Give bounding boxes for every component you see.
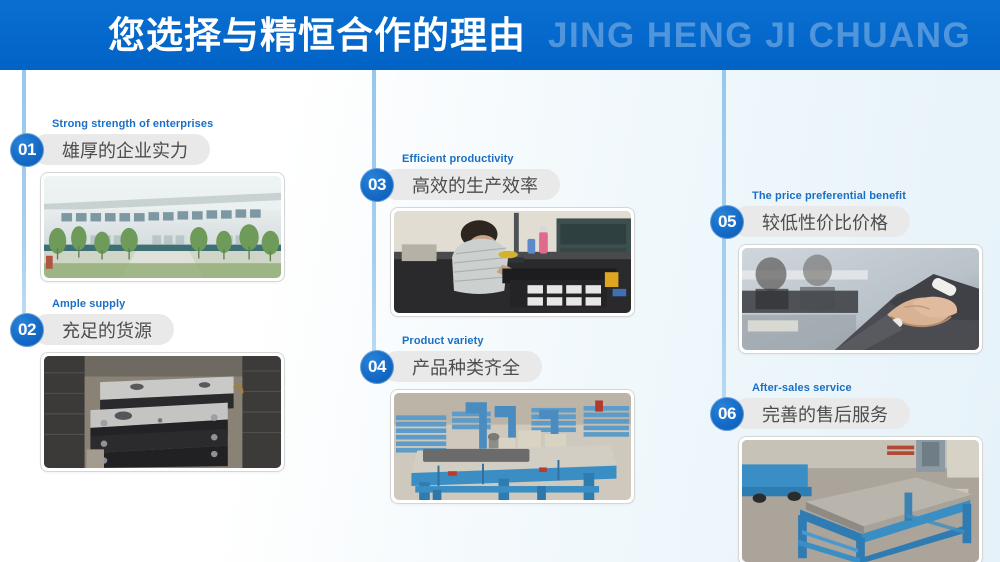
feature-photo-frame-05[interactable] [738,244,983,354]
feature-label-cn-04: 产品种类齐全 [382,351,542,382]
feature-badge-06: 06 [710,397,744,431]
feature-header-06: After-sales service 完善的售后服务 06 [710,382,983,430]
feature-item-05[interactable]: The price preferential benefit 较低性价比价格 0… [710,190,983,354]
feature-badge-02: 02 [10,313,44,347]
feature-header-04: Product variety 产品种类齐全 04 [360,335,635,383]
feature-label-cn-01: 雄厚的企业实力 [32,134,210,165]
feature-badge-04: 04 [360,350,394,384]
feature-label-en-03: Efficient productivity [402,153,514,165]
feature-label-cn-05: 较低性价比价格 [732,206,910,237]
feature-header-03: Efficient productivity 高效的生产效率 03 [360,153,635,201]
feature-label-cn-03: 高效的生产效率 [382,169,560,200]
feature-header-02: Ample supply 充足的货源 02 [10,298,285,346]
worker-at-workbench-photo [394,211,631,313]
page-title-pinyin: JING HENG JI CHUANG [548,18,971,53]
page-title: 您选择与精恒合作的理由 [108,17,526,54]
feature-label-en-06: After-sales service [752,382,852,394]
feature-photo-frame-03[interactable] [390,207,635,317]
feature-label-en-02: Ample supply [52,298,125,310]
feature-badge-01: 01 [10,133,44,167]
factory-building-photo [44,176,281,278]
feature-photo-frame-04[interactable] [390,389,635,504]
feature-item-02[interactable]: Ample supply 充足的货源 02 [10,298,285,472]
column-1: Strong strength of enterprises 雄厚的企业实力 0… [10,70,310,562]
stacked-granite-plates-photo [44,356,281,468]
feature-photo-frame-01[interactable] [40,172,285,282]
feature-badge-05: 05 [710,205,744,239]
feature-label-en-01: Strong strength of enterprises [52,118,213,130]
blue-machine-platform-photo [394,393,631,500]
column-3: The price preferential benefit 较低性价比价格 0… [710,70,1000,562]
why-choose-us-infographic: 您选择与精恒合作的理由 JING HENG JI CHUANG Strong s… [0,0,1000,562]
feature-item-04[interactable]: Product variety 产品种类齐全 04 [360,335,635,504]
feature-label-en-04: Product variety [402,335,484,347]
feature-item-06[interactable]: After-sales service 完善的售后服务 06 [710,382,983,562]
feature-label-cn-02: 充足的货源 [32,314,174,345]
feature-photo-frame-02[interactable] [40,352,285,472]
feature-item-03[interactable]: Efficient productivity 高效的生产效率 03 [360,153,635,317]
feature-item-01[interactable]: Strong strength of enterprises 雄厚的企业实力 0… [10,118,285,282]
business-handshake-photo [742,248,979,350]
feature-header-05: The price preferential benefit 较低性价比价格 0… [710,190,983,238]
page-header: 您选择与精恒合作的理由 JING HENG JI CHUANG [0,0,1000,70]
feature-header-01: Strong strength of enterprises 雄厚的企业实力 0… [10,118,285,166]
feature-badge-03: 03 [360,168,394,202]
blue-steel-worktable-photo [742,440,979,562]
column-2: Efficient productivity 高效的生产效率 03 [360,70,660,562]
feature-label-cn-06: 完善的售后服务 [732,398,910,429]
feature-photo-frame-06[interactable] [738,436,983,562]
feature-label-en-05: The price preferential benefit [752,190,906,202]
